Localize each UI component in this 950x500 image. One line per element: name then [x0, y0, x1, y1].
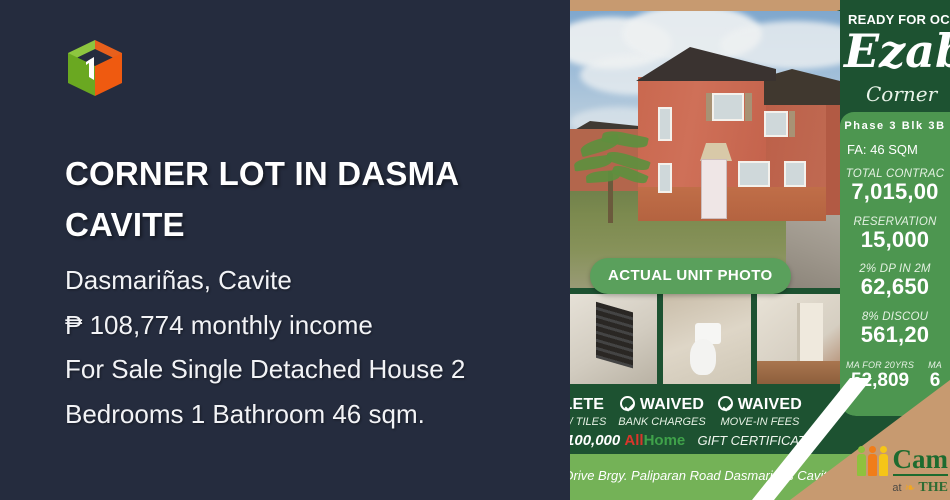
property-flyer-image[interactable]: ACTUAL UNIT PHOTO READY FOR OCC Ezab [570, 0, 950, 500]
gift-amount: P100,000 [570, 432, 620, 449]
stat-downpayment: 2% DP IN 2M 62,650 [840, 263, 950, 300]
model-name: Ezabe [844, 28, 950, 74]
actual-unit-photo-badge: ACTUAL UNIT PHOTO [590, 258, 791, 294]
brand-the-label: THE [918, 480, 948, 496]
ma-label: MA [928, 360, 942, 370]
feature-complete: MPLETE VER w/ TILES [570, 396, 606, 428]
model-header: READY FOR OCC Ezabe Corner [840, 0, 950, 118]
ma-label: MA FOR 20YRS [846, 360, 914, 370]
window-shutter [789, 111, 795, 137]
people-figures-icon [857, 438, 891, 476]
floor-area-label: FA: 46 SQM [847, 142, 918, 157]
area-row: FA: 46 SQM LA [840, 142, 950, 157]
window [658, 163, 672, 193]
stat-discount: 8% DISCOU 561,20 [840, 311, 950, 348]
model-subtitle: Corner [866, 82, 937, 106]
ma-secondary: MA 6 [928, 360, 942, 392]
wood-floor [757, 361, 844, 384]
stat-label: RESERVATION [840, 216, 950, 228]
stat-value: 62,650 [840, 275, 950, 300]
thumbnail-bedroom [757, 294, 844, 384]
feature-title: WAIVED [640, 396, 704, 413]
thumbnail-staircase [570, 294, 657, 384]
feature-subtitle: BANK CHARGES [618, 416, 705, 428]
page-title: CORNER LOT IN DASMA CAVITE [65, 148, 535, 250]
feature-bank-charges: WAIVED BANK CHARGES [618, 396, 705, 428]
listing-description: For Sale Single Detached House 2 Bedroom… [65, 347, 545, 436]
window [764, 111, 788, 137]
listing-income: ₱ 108,774 monthly income [65, 303, 545, 348]
listing-card: CORNER LOT IN DASMA CAVITE Dasmariñas, C… [0, 0, 950, 500]
listing-meta: Dasmariñas, Cavite ₱ 108,774 monthly inc… [65, 258, 545, 437]
window [784, 161, 806, 187]
gift-certificate-row: P100,000 AllHome GIFT CERTIFICATE [570, 432, 890, 449]
phase-block-label: Phase 3 Blk 3B [840, 118, 950, 132]
window [658, 107, 672, 141]
allhome-logo-all: All [624, 432, 643, 449]
stat-value: 15,000 [840, 228, 950, 253]
listing-location: Dasmariñas, Cavite [65, 258, 545, 303]
front-door [701, 159, 727, 219]
check-circle-icon [620, 396, 635, 411]
pricing-stats-card: READY FOR OCC Ezabe Corner Phase 3 Blk 3… [840, 0, 950, 416]
camella-brand-logo: Cam [857, 438, 949, 476]
stat-reservation: RESERVATION 15,000 [840, 216, 950, 253]
listing-info-panel: CORNER LOT IN DASMA CAVITE Dasmariñas, C… [0, 0, 570, 500]
thumbnail-bathroom [663, 294, 750, 384]
check-circle-icon [718, 396, 733, 411]
feature-title: MPLETE [570, 396, 606, 414]
stat-value: 561,20 [840, 323, 950, 348]
interior-thumbnail-strip [570, 288, 852, 392]
window-shutter [745, 93, 752, 121]
stat-total-contract-price: TOTAL CONTRAC 7,015,00 [840, 168, 950, 205]
feature-subtitle: MOVE-IN FEES [718, 416, 802, 428]
toilet-bowl [690, 339, 716, 375]
feature-title: WAIVED [738, 396, 802, 413]
pricing-body: Phase 3 Blk 3B FA: 46 SQM LA TOTAL CONTR… [840, 112, 950, 416]
allhome-logo-home: Home [644, 432, 686, 449]
brand-at-label: at [892, 482, 901, 494]
stat-value: 7,015,00 [840, 180, 950, 205]
leaf-icon: ❧ [905, 480, 916, 496]
brand-name: Cam [893, 447, 949, 476]
brand-subline: at ❧ THE [892, 480, 948, 496]
feature-subtitle: VER w/ TILES [570, 416, 606, 428]
window [712, 93, 744, 121]
interior-doorway [797, 303, 823, 370]
window [738, 161, 770, 187]
unit-exterior-photo [570, 11, 852, 291]
house-logo-icon[interactable] [64, 36, 126, 100]
feature-move-in-fees: WAIVED MOVE-IN FEES [718, 396, 802, 428]
staircase [596, 301, 633, 367]
